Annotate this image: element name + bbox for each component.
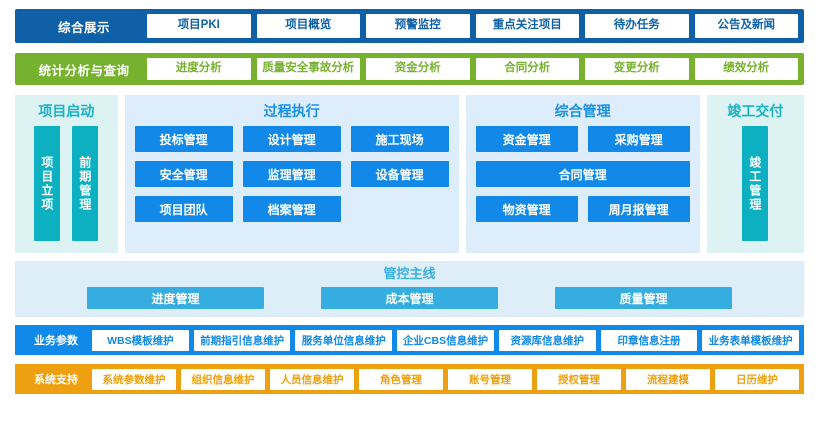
tile-row: 物资管理 周月报管理 xyxy=(476,196,690,222)
mainline-button-quality-mgmt[interactable]: 质量管理 xyxy=(555,287,732,309)
top-nav-item-0[interactable]: 项目PKI xyxy=(147,14,251,38)
stats-nav-items: 进度分析 质量安全事故分析 资金分析 合同分析 变更分析 绩效分析 xyxy=(147,58,798,80)
mainline-title: 管控主线 xyxy=(15,267,804,280)
panel-project-start-title: 项目启动 xyxy=(25,104,108,118)
mainline-button-cost-mgmt[interactable]: 成本管理 xyxy=(321,287,498,309)
tile-materials-mgmt[interactable]: 物资管理 xyxy=(476,196,578,222)
mainline-panel: 管控主线 进度管理 成本管理 质量管理 xyxy=(15,261,804,317)
top-nav-item-2[interactable]: 预警监控 xyxy=(366,14,470,38)
business-params-bar: 业务参数 WBS模板维护 前期指引信息维护 服务单位信息维护 企业CBS信息维护… xyxy=(15,325,804,355)
stats-nav-item-0[interactable]: 进度分析 xyxy=(147,58,251,80)
panel-completion-delivery-title: 竣工交付 xyxy=(717,104,794,118)
panel-completion-delivery-buttons: 竣工管理 xyxy=(717,126,794,243)
top-nav-item-1[interactable]: 项目概览 xyxy=(257,14,361,38)
tile-row: 合同管理 xyxy=(476,161,690,187)
business-params-item-2[interactable]: 服务单位信息维护 xyxy=(295,330,392,351)
tile-archive-mgmt[interactable]: 档案管理 xyxy=(243,196,341,222)
panel-comprehensive-management-title: 综合管理 xyxy=(476,104,690,118)
stats-nav-item-3[interactable]: 合同分析 xyxy=(476,58,580,80)
tile-design-mgmt[interactable]: 设计管理 xyxy=(243,126,341,152)
tile-row: 投标管理 设计管理 施工现场 xyxy=(135,126,449,152)
top-nav-item-4[interactable]: 待办任务 xyxy=(585,14,689,38)
system-support-item-2[interactable]: 人员信息维护 xyxy=(270,369,354,390)
system-support-item-4[interactable]: 账号管理 xyxy=(448,369,532,390)
system-support-item-5[interactable]: 授权管理 xyxy=(537,369,621,390)
business-params-item-5[interactable]: 印章信息注册 xyxy=(601,330,698,351)
tile-procurement-mgmt[interactable]: 采购管理 xyxy=(588,126,690,152)
business-params-item-3[interactable]: 企业CBS信息维护 xyxy=(397,330,494,351)
stats-nav-title: 统计分析与查询 xyxy=(21,60,147,79)
lifecycle-stage-row: 项目启动 项目立项 前期管理 过程执行 投标管理 设计管理 施工现场 安全管理 … xyxy=(15,95,804,253)
system-support-item-3[interactable]: 角色管理 xyxy=(359,369,443,390)
architecture-diagram-page: 综合展示 项目PKI 项目概览 预警监控 重点关注项目 待办任务 公告及新闻 统… xyxy=(0,9,819,421)
tile-project-team[interactable]: 项目团队 xyxy=(135,196,233,222)
panel-process-execution: 过程执行 投标管理 设计管理 施工现场 安全管理 监理管理 设备管理 项目团队 … xyxy=(125,95,459,253)
top-nav-item-5[interactable]: 公告及新闻 xyxy=(695,14,799,38)
tile-row: 资金管理 采购管理 xyxy=(476,126,690,152)
tile-bidding-mgmt[interactable]: 投标管理 xyxy=(135,126,233,152)
panel-process-execution-tiles: 投标管理 设计管理 施工现场 安全管理 监理管理 设备管理 项目团队 档案管理 xyxy=(135,126,449,243)
stats-nav-item-4[interactable]: 变更分析 xyxy=(585,58,689,80)
panel-comprehensive-management-tiles: 资金管理 采购管理 合同管理 物资管理 周月报管理 xyxy=(476,126,690,243)
panel-process-execution-title: 过程执行 xyxy=(135,104,449,118)
tile-equipment-mgmt[interactable]: 设备管理 xyxy=(351,161,449,187)
tile-supervision-mgmt[interactable]: 监理管理 xyxy=(243,161,341,187)
vbutton-preliminary-mgmt[interactable]: 前期管理 xyxy=(72,126,98,241)
business-params-item-6[interactable]: 业务表单模板维护 xyxy=(702,330,799,351)
system-support-item-0[interactable]: 系统参数维护 xyxy=(92,369,176,390)
top-nav-bar: 综合展示 项目PKI 项目概览 预警监控 重点关注项目 待办任务 公告及新闻 xyxy=(15,9,804,43)
business-params-items: WBS模板维护 前期指引信息维护 服务单位信息维护 企业CBS信息维护 资源库信… xyxy=(92,330,799,351)
panel-project-start-buttons: 项目立项 前期管理 xyxy=(25,126,108,243)
tile-row-spacer xyxy=(351,196,449,222)
system-support-bar: 系统支持 系统参数维护 组织信息维护 人员信息维护 角色管理 账号管理 授权管理… xyxy=(15,364,804,394)
stats-nav-item-2[interactable]: 资金分析 xyxy=(366,58,470,80)
system-support-item-6[interactable]: 流程建模 xyxy=(626,369,710,390)
tile-funds-mgmt[interactable]: 资金管理 xyxy=(476,126,578,152)
mainline-buttons: 进度管理 成本管理 质量管理 xyxy=(15,287,804,309)
vbutton-project-initiation[interactable]: 项目立项 xyxy=(34,126,60,241)
tile-row: 项目团队 档案管理 xyxy=(135,196,449,222)
stats-nav-bar: 统计分析与查询 进度分析 质量安全事故分析 资金分析 合同分析 变更分析 绩效分… xyxy=(15,53,804,85)
business-params-item-1[interactable]: 前期指引信息维护 xyxy=(194,330,291,351)
top-nav-items: 项目PKI 项目概览 预警监控 重点关注项目 待办任务 公告及新闻 xyxy=(147,14,798,38)
business-params-title: 业务参数 xyxy=(20,332,92,348)
system-support-title: 系统支持 xyxy=(20,371,92,387)
stats-nav-item-1[interactable]: 质量安全事故分析 xyxy=(257,58,361,80)
tile-row: 安全管理 监理管理 设备管理 xyxy=(135,161,449,187)
top-nav-title: 综合展示 xyxy=(21,17,147,36)
tile-contract-mgmt[interactable]: 合同管理 xyxy=(476,161,690,187)
system-support-item-7[interactable]: 日历维护 xyxy=(715,369,799,390)
panel-comprehensive-management: 综合管理 资金管理 采购管理 合同管理 物资管理 周月报管理 xyxy=(466,95,700,253)
tile-weekly-monthly-report-mgmt[interactable]: 周月报管理 xyxy=(588,196,690,222)
tile-safety-mgmt[interactable]: 安全管理 xyxy=(135,161,233,187)
stats-nav-item-5[interactable]: 绩效分析 xyxy=(695,58,799,80)
system-support-items: 系统参数维护 组织信息维护 人员信息维护 角色管理 账号管理 授权管理 流程建模… xyxy=(92,369,799,390)
vbutton-completion-mgmt[interactable]: 竣工管理 xyxy=(742,126,768,241)
panel-project-start: 项目启动 项目立项 前期管理 xyxy=(15,95,118,253)
top-nav-item-3[interactable]: 重点关注项目 xyxy=(476,14,580,38)
panel-completion-delivery: 竣工交付 竣工管理 xyxy=(707,95,804,253)
business-params-item-4[interactable]: 资源库信息维护 xyxy=(499,330,596,351)
tile-construction-site[interactable]: 施工现场 xyxy=(351,126,449,152)
mainline-button-schedule-mgmt[interactable]: 进度管理 xyxy=(87,287,264,309)
business-params-item-0[interactable]: WBS模板维护 xyxy=(92,330,189,351)
system-support-item-1[interactable]: 组织信息维护 xyxy=(181,369,265,390)
